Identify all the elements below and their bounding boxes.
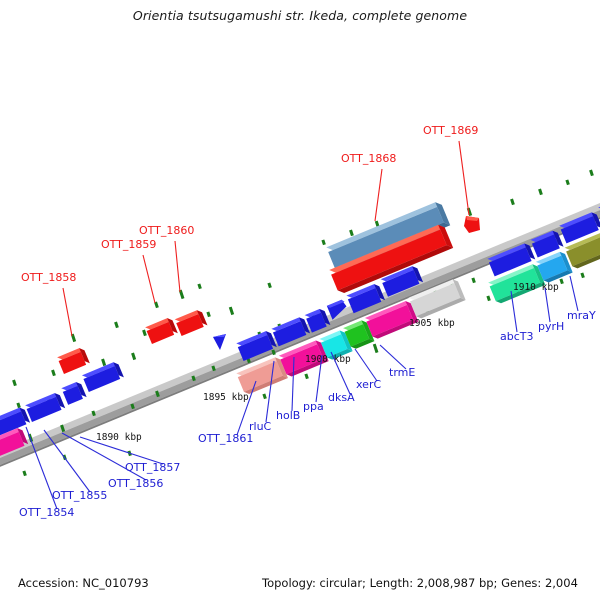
gene-label-trmE[interactable]: trmE bbox=[389, 366, 415, 379]
gene-red-1[interactable] bbox=[57, 347, 90, 374]
accession-text: Accession: NC_010793 bbox=[18, 576, 149, 590]
leader-line-OTT_1869 bbox=[459, 141, 469, 215]
gene-label-abcT3[interactable]: abcT3 bbox=[500, 330, 534, 343]
gene-label-OTT_1854[interactable]: OTT_1854 bbox=[19, 506, 74, 519]
leader-line-OTT_1868 bbox=[375, 169, 382, 221]
gene-label-OTT_1861[interactable]: OTT_1861 bbox=[198, 432, 253, 445]
gene-label-dksA[interactable]: dksA bbox=[328, 391, 355, 404]
leader-line-pyrH bbox=[545, 288, 550, 322]
gene-label-OTT_1856[interactable]: OTT_1856 bbox=[108, 477, 163, 490]
gene-arrow-red-small[interactable] bbox=[464, 216, 480, 233]
ruler-tick-1910: 1910 kbp bbox=[513, 282, 559, 293]
gene-red-3[interactable] bbox=[175, 309, 208, 336]
gene-label-OTT_1857[interactable]: OTT_1857 bbox=[125, 461, 180, 474]
gene-label-ppa[interactable]: ppa bbox=[303, 400, 324, 413]
topology-text: Topology: circular; Length: 2,008,987 bp… bbox=[262, 576, 578, 590]
leader-line-OTT_1860 bbox=[175, 241, 180, 292]
ruler-tick-1900: 1900 kbp bbox=[305, 354, 351, 365]
gene-label-OTT_1855[interactable]: OTT_1855 bbox=[52, 489, 107, 502]
gene-label-holB[interactable]: holB bbox=[276, 409, 300, 422]
gene-label-xerC[interactable]: xerC bbox=[356, 378, 381, 391]
leader-line-mraY bbox=[570, 276, 578, 311]
gene-label-mraY[interactable]: mraY bbox=[567, 309, 596, 322]
gene-label-OTT_1858[interactable]: OTT_1858 bbox=[21, 271, 76, 284]
gene-label-rluC[interactable]: rluC bbox=[249, 420, 272, 433]
gene-label-pyrH[interactable]: pyrH bbox=[538, 320, 564, 333]
gene-arrow-icon[interactable] bbox=[213, 334, 226, 350]
leader-line-xerC bbox=[355, 349, 377, 381]
gene-label-OTT_1868[interactable]: OTT_1868 bbox=[341, 152, 396, 165]
gene-block-icon[interactable] bbox=[82, 361, 124, 392]
status-bar: Accession: NC_010793 Topology: circular;… bbox=[0, 564, 600, 600]
leader-line-OTT_1859 bbox=[143, 255, 155, 303]
leader-line-OTT_1855 bbox=[44, 430, 90, 492]
gene-label-OTT_1869[interactable]: OTT_1869 bbox=[423, 124, 478, 137]
gene-block-icon[interactable] bbox=[61, 381, 86, 405]
genome-map-viewer: Orientia tsutsugamushi str. Ikeda, compl… bbox=[0, 0, 600, 600]
ruler-tick-1895: 1895 kbp bbox=[203, 392, 249, 403]
genome-map-canvas[interactable]: 1890 kbp 1895 kbp 1900 kbp 1905 kbp 1910… bbox=[0, 0, 600, 600]
gene-label-OTT_1859[interactable]: OTT_1859 bbox=[101, 238, 156, 251]
leader-line-OTT_1858 bbox=[63, 288, 72, 336]
ruler-tick-1890: 1890 kbp bbox=[96, 432, 142, 443]
gene-block-icon[interactable] bbox=[25, 392, 65, 422]
gene-red-2[interactable] bbox=[145, 317, 178, 344]
ruler-tick-1905: 1905 kbp bbox=[409, 318, 455, 329]
gene-label-OTT_1860[interactable]: OTT_1860 bbox=[139, 224, 194, 237]
